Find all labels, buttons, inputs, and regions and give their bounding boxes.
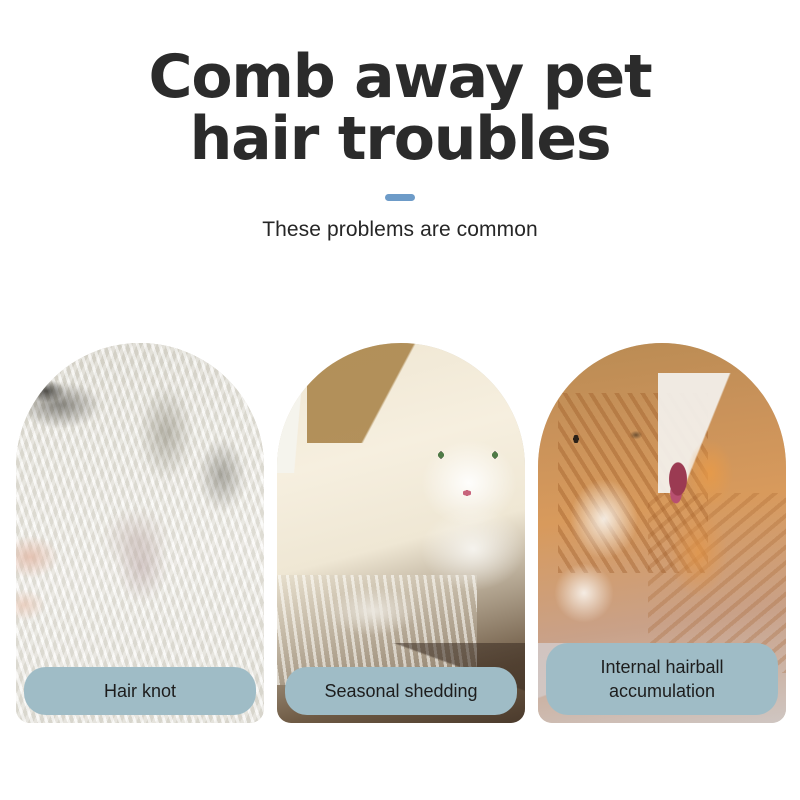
card-label-seasonal-shedding: Seasonal shedding: [285, 667, 517, 715]
problem-card-hair-knot[interactable]: Hair knot: [16, 343, 264, 723]
page-subtitle: These problems are common: [0, 218, 800, 242]
accent-divider: [385, 194, 415, 201]
page-title: Comb away pet hair troubles: [0, 46, 800, 170]
cat-persian-shedding-photo: [277, 343, 525, 723]
card-label-internal-hairball: Internal hairball accumulation: [546, 643, 778, 715]
problem-card-seasonal-shedding[interactable]: Seasonal shedding: [277, 343, 525, 723]
problem-card-internal-hairball[interactable]: Internal hairball accumulation: [538, 343, 786, 723]
card-label-hair-knot: Hair knot: [24, 667, 256, 715]
promo-page: Comb away pet hair troubles These proble…: [0, 0, 800, 800]
divider-wrap: [0, 194, 800, 202]
page-header: Comb away pet hair troubles These proble…: [0, 0, 800, 242]
problem-card-list: Hair knot Seasonal shedding Internal hai…: [16, 343, 786, 723]
cat-matted-fur-photo: [16, 343, 264, 723]
